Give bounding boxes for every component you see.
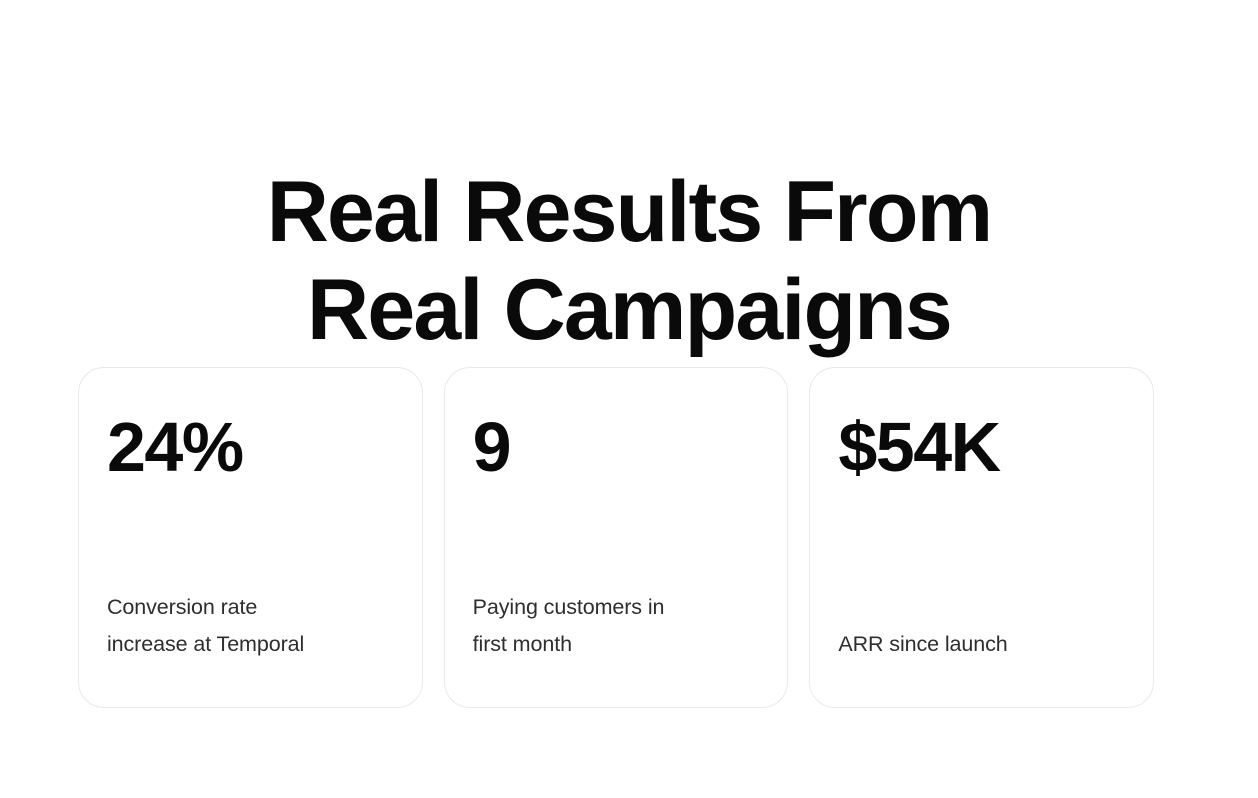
stat-value: 9 <box>473 412 510 482</box>
stat-value: $54K <box>838 412 999 482</box>
stat-label: Paying customers in first month <box>473 589 665 663</box>
stats-card-row: 24% Conversion rate increase at Temporal… <box>78 367 1154 708</box>
stat-card: $54K ARR since launch <box>809 367 1154 708</box>
stat-card: 9 Paying customers in first month <box>444 367 789 708</box>
stat-card: 24% Conversion rate increase at Temporal <box>78 367 423 708</box>
section-heading: Real Results From Real Campaigns <box>0 163 1258 359</box>
stat-value: 24% <box>107 412 243 482</box>
stats-section: Real Results From Real Campaigns 24% Con… <box>0 0 1258 798</box>
stat-label: Conversion rate increase at Temporal <box>107 589 304 663</box>
stat-label: ARR since launch <box>838 626 1007 663</box>
